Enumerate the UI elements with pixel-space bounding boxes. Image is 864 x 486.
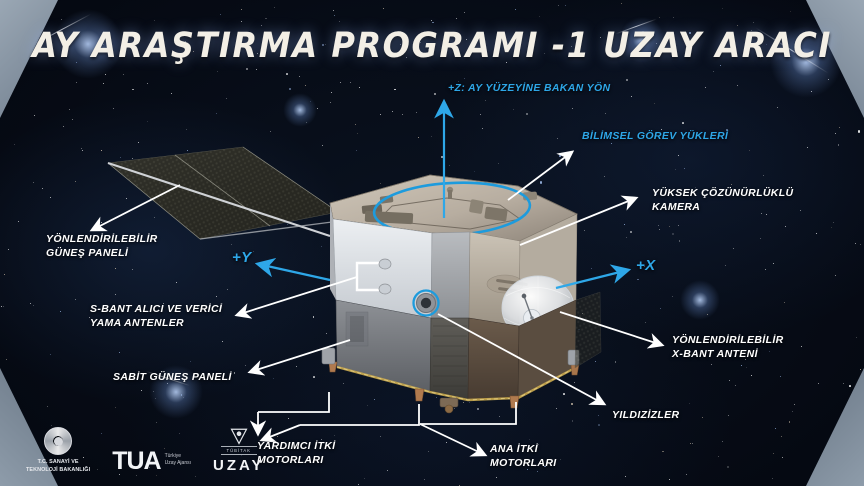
tua-wordmark: TUA bbox=[112, 450, 160, 474]
callout-main-thruster: ANA İTKİ MOTORLARI bbox=[490, 443, 557, 470]
callout-camera: YÜKSEK ÇÖZÜNÜRLÜKLÜ KAMERA bbox=[652, 187, 793, 214]
callout-star-tracker: YILDIZİZLER bbox=[612, 409, 679, 423]
ministry-seal-icon bbox=[44, 427, 72, 455]
callout-payloads: BİLİMSEL GÖREV YÜKLERİ bbox=[582, 130, 728, 144]
callout-fixed-solar: SABİT GÜNEŞ PANELİ bbox=[113, 371, 232, 385]
callout-s-band: S-BANT ALICI VE VERİCİ YAMA ANTENLER bbox=[90, 303, 222, 330]
uzay-wordmark: UZAY bbox=[213, 457, 264, 474]
logo-ministry: T.C. SANAYİ VE TEKNOLOJİ BAKANLIĞI bbox=[26, 427, 90, 474]
logo-bar: T.C. SANAYİ VE TEKNOLOJİ BAKANLIĞI TUA T… bbox=[26, 427, 264, 474]
logo-tua: TUA Türkiye Uzay Ajansı bbox=[112, 450, 191, 474]
axis-label-x: +X bbox=[636, 256, 655, 276]
tubitak-caption: TÜBİTAK bbox=[221, 446, 257, 455]
tubitak-mark-icon bbox=[230, 427, 248, 445]
tua-caption: Türkiye Uzay Ajansı bbox=[165, 453, 191, 467]
axis-label-y: +Y bbox=[232, 248, 251, 268]
axis-label-z: +Z: AY YÜZEYİNE BAKAN YÖN bbox=[448, 82, 611, 96]
ministry-caption: T.C. SANAYİ VE TEKNOLOJİ BAKANLIĞI bbox=[26, 459, 90, 474]
callout-steerable-solar: YÖNLENDİRİLEBİLİR GÜNEŞ PANELİ bbox=[46, 233, 158, 260]
infographic-poster: AY ARAŞTIRMA PROGRAMI -1 UZAY ARACI bbox=[0, 0, 864, 486]
callout-aux-thruster: YARDIMCI İTKİ MOTORLARI bbox=[257, 440, 335, 467]
logo-tubitak-uzay: TÜBİTAK UZAY bbox=[213, 427, 264, 474]
callout-x-band: YÖNLENDİRİLEBİLİR X-BANT ANTENİ bbox=[672, 334, 784, 361]
